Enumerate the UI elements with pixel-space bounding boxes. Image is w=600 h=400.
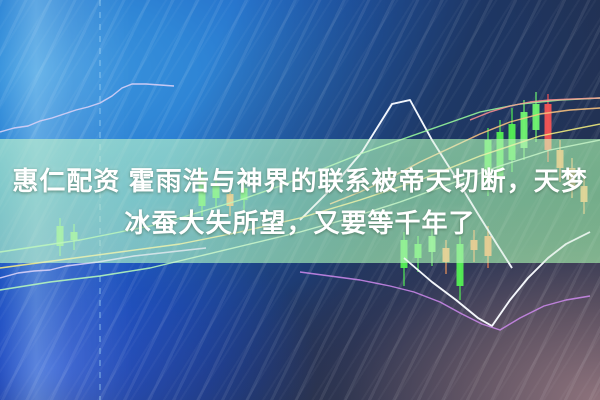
candlestick-body — [569, 168, 576, 186]
candlestick-body — [557, 150, 564, 168]
trend-line — [0, 124, 600, 268]
candlestick-body — [581, 186, 588, 202]
stock-chart-foreground — [0, 0, 600, 400]
candlestick-body — [485, 236, 492, 256]
trend-line — [0, 140, 600, 290]
candlestick-body — [485, 140, 492, 182]
candlestick-body — [443, 248, 450, 262]
candlestick-body — [71, 232, 78, 240]
candlestick-body — [457, 244, 464, 286]
candlestick-body — [497, 132, 504, 176]
candlestick-body — [213, 186, 220, 198]
trend-line — [0, 248, 206, 278]
trend-line — [0, 84, 174, 132]
candlestick-body — [429, 236, 436, 252]
candlestick-body — [533, 104, 540, 130]
trend-line — [0, 98, 600, 252]
candlestick-body — [199, 178, 206, 206]
candlestick-body — [415, 244, 422, 258]
trend-line-group-front — [0, 84, 600, 330]
candlestick-body — [401, 240, 408, 268]
candlestick-body — [509, 124, 516, 160]
candlestick-body — [471, 240, 478, 250]
candlestick-body — [545, 104, 552, 150]
banner-image: 惠仁配资 霍雨浩与神界的联系被帝天切断，天梦 冰蚕大失所望，又要等千年了 — [0, 0, 600, 400]
trend-line — [300, 272, 590, 330]
